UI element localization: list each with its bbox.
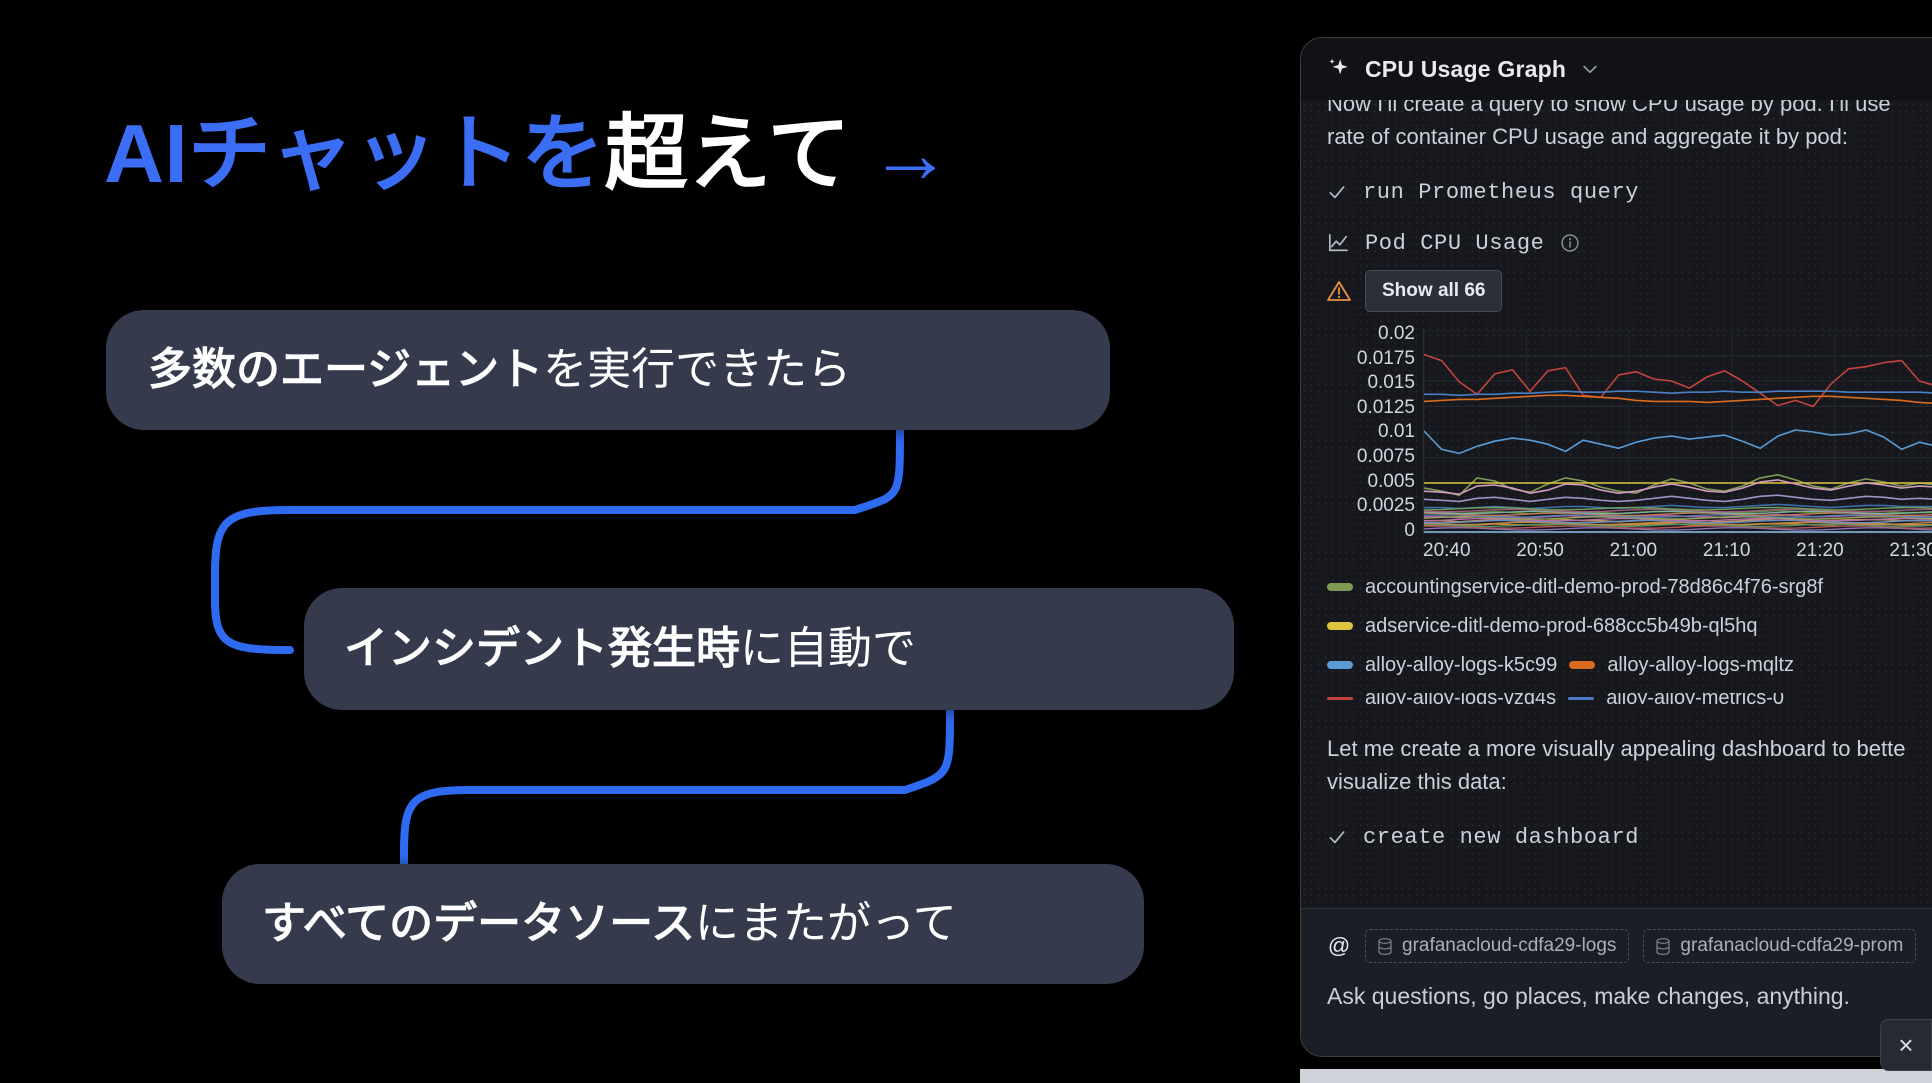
datasource-name: grafanacloud-cdfa29-logs: [1402, 935, 1616, 957]
chart-series-line: [1424, 391, 1932, 395]
assistant-message-followup-line1: Let me create a more visually appealing …: [1327, 732, 1932, 765]
x-tick-label: 21:00: [1610, 540, 1658, 562]
datasource-chip-prom[interactable]: grafanacloud-cdfa29-prom: [1643, 929, 1916, 963]
statement-pill-2: インシデント発生時に自動で: [304, 588, 1234, 710]
check-icon: [1327, 827, 1347, 847]
y-tick-label: 0.02: [1378, 324, 1415, 343]
legend-swatch: [1569, 661, 1595, 669]
x-tick-label: 21:30: [1889, 540, 1932, 562]
conversation-body: Now I'll create a query to show CPU usag…: [1301, 100, 1932, 972]
at-mention-icon[interactable]: @: [1327, 933, 1351, 959]
close-button[interactable]: ×: [1880, 1019, 1932, 1071]
y-tick-label: 0.0025: [1357, 496, 1415, 515]
legend-label: alloy-alloy-logs-mqltz: [1607, 654, 1794, 677]
legend-swatch: [1327, 697, 1353, 700]
warning-triangle-icon: [1327, 280, 1351, 302]
x-tick-label: 20:50: [1516, 540, 1564, 562]
right-arrow-icon: →: [869, 107, 953, 200]
chart-legend: accountingservice-ditl-demo-prod-78d86c4…: [1327, 576, 1932, 704]
legend-label: alloy-alloy-logs-vzd4s: [1365, 693, 1556, 704]
chevron-down-icon[interactable]: [1580, 59, 1600, 79]
legend-label: adservice-ditl-demo-prod-688cc5b49b-ql5h…: [1365, 615, 1757, 638]
x-tick-label: 21:20: [1796, 540, 1844, 562]
tool-row-pod-cpu-usage[interactable]: Pod CPU Usage: [1327, 231, 1932, 256]
statement-pill-3: すべてのデータソースにまたがって: [222, 864, 1144, 984]
statement-pill-1-text: 多数のエージェントを実行できたら: [148, 348, 851, 392]
tool-label: Pod CPU Usage: [1365, 231, 1544, 256]
show-all-button[interactable]: Show all 66: [1365, 270, 1502, 312]
legend-item[interactable]: alloy-alloy-logs-mqltz: [1569, 654, 1794, 677]
info-icon[interactable]: [1560, 233, 1580, 253]
legend-swatch: [1568, 697, 1594, 700]
assistant-panel: CPU Usage Graph Now I'll create a query …: [1300, 37, 1932, 1057]
legend-row: alloy-alloy-logs-k5c99 alloy-alloy-logs-…: [1327, 654, 1932, 677]
pill-2-bold: インシデント発生時: [344, 624, 740, 673]
legend-row-clipped: alloy-alloy-logs-vzd4s alloy-alloy-metri…: [1327, 693, 1932, 704]
datasource-name: grafanacloud-cdfa29-prom: [1680, 935, 1903, 957]
tool-label: run Prometheus query: [1363, 180, 1639, 205]
legend-item[interactable]: alloy-alloy-metrics-0: [1568, 693, 1784, 704]
chart-x-axis-labels: 20:4020:5021:0021:1021:2021:30: [1423, 540, 1932, 562]
tool-row-run-prometheus-query[interactable]: run Prometheus query: [1327, 180, 1932, 205]
y-tick-label: 0.0175: [1357, 349, 1415, 368]
pill-3-normal: にまたがって: [695, 899, 957, 948]
panel-title: CPU Usage Graph: [1365, 56, 1566, 83]
assistant-message-intro-line2: rate of container CPU usage and aggregat…: [1327, 120, 1932, 153]
y-tick-label: 0.0075: [1357, 447, 1415, 466]
slide-canvas: AIチャットを超えて→ 多数のエージェントを実行できたら インシデント発生時に自…: [0, 0, 1932, 1083]
legend-item[interactable]: adservice-ditl-demo-prod-688cc5b49b-ql5h…: [1327, 615, 1757, 638]
y-tick-label: 0.0125: [1357, 398, 1415, 417]
legend-label: alloy-alloy-logs-k5c99: [1365, 654, 1557, 677]
pill-2-normal: に自動で: [740, 624, 916, 673]
statement-pill-3-text: すべてのデータソースにまたがって: [262, 902, 957, 946]
sparkle-icon: [1325, 56, 1351, 82]
statement-pill-1: 多数のエージェントを実行できたら: [106, 310, 1110, 430]
pill-1-normal: を実行できたら: [543, 345, 851, 394]
y-tick-label: 0.015: [1367, 373, 1415, 392]
assistant-message-followup-line2: visualize this data:: [1327, 765, 1932, 798]
chart-series-line: [1424, 395, 1932, 403]
legend-row: adservice-ditl-demo-prod-688cc5b49b-ql5h…: [1327, 615, 1932, 638]
legend-label: accountingservice-ditl-demo-prod-78d86c4…: [1365, 576, 1823, 599]
chart-y-axis-labels: 0.020.01750.0150.01250.010.00750.0050.00…: [1327, 330, 1415, 546]
legend-label: alloy-alloy-metrics-0: [1606, 693, 1784, 704]
legend-item[interactable]: alloy-alloy-logs-k5c99: [1327, 654, 1557, 677]
legend-item[interactable]: alloy-alloy-logs-vzd4s: [1327, 693, 1556, 704]
pill-1-bold: 多数のエージェント: [148, 345, 543, 394]
database-icon: [1656, 938, 1670, 955]
y-tick-label: 0.01: [1378, 422, 1415, 441]
chart-plot-area: [1423, 330, 1932, 534]
legend-swatch: [1327, 622, 1353, 630]
x-tick-label: 21:10: [1703, 540, 1751, 562]
window-bottom-strip: [1300, 1069, 1932, 1083]
chart-series-line: [1424, 430, 1932, 453]
warning-row: Show all 66: [1327, 270, 1932, 312]
legend-swatch: [1327, 583, 1353, 591]
datasource-chip-logs[interactable]: grafanacloud-cdfa29-logs: [1365, 929, 1629, 963]
assistant-message-intro-line1: Now I'll create a query to show CPU usag…: [1327, 100, 1932, 120]
datasource-chip-row: @ grafanacloud-cdfa29-logs graf: [1327, 929, 1932, 963]
tool-row-create-new-dashboard[interactable]: create new dashboard: [1327, 825, 1932, 850]
line-chart-icon: [1327, 233, 1349, 253]
check-icon: [1327, 182, 1347, 202]
y-tick-label: 0: [1404, 521, 1415, 540]
page-title: AIチャットを超えて→: [104, 108, 953, 199]
panel-header: CPU Usage Graph: [1301, 38, 1932, 100]
tool-label: create new dashboard: [1363, 825, 1639, 850]
legend-swatch: [1327, 661, 1353, 669]
database-icon: [1378, 938, 1392, 955]
headline-white-part: 超えて: [605, 107, 851, 200]
pill-3-bold: すべてのデータソース: [262, 899, 695, 948]
legend-item[interactable]: accountingservice-ditl-demo-prod-78d86c4…: [1327, 576, 1823, 599]
prompt-input[interactable]: Ask questions, go places, make changes, …: [1327, 983, 1932, 1010]
statement-pill-2-text: インシデント発生時に自動で: [344, 627, 916, 671]
y-tick-label: 0.005: [1367, 472, 1415, 491]
legend-row: accountingservice-ditl-demo-prod-78d86c4…: [1327, 576, 1932, 599]
pod-cpu-usage-chart: 0.020.01750.0150.01250.010.00750.0050.00…: [1327, 330, 1932, 704]
prompt-input-area: @ grafanacloud-cdfa29-logs graf: [1301, 908, 1932, 1056]
headline-blue-part: AIチャットを: [104, 107, 605, 200]
chart-series-line: [1424, 495, 1932, 501]
x-tick-label: 20:40: [1423, 540, 1471, 562]
